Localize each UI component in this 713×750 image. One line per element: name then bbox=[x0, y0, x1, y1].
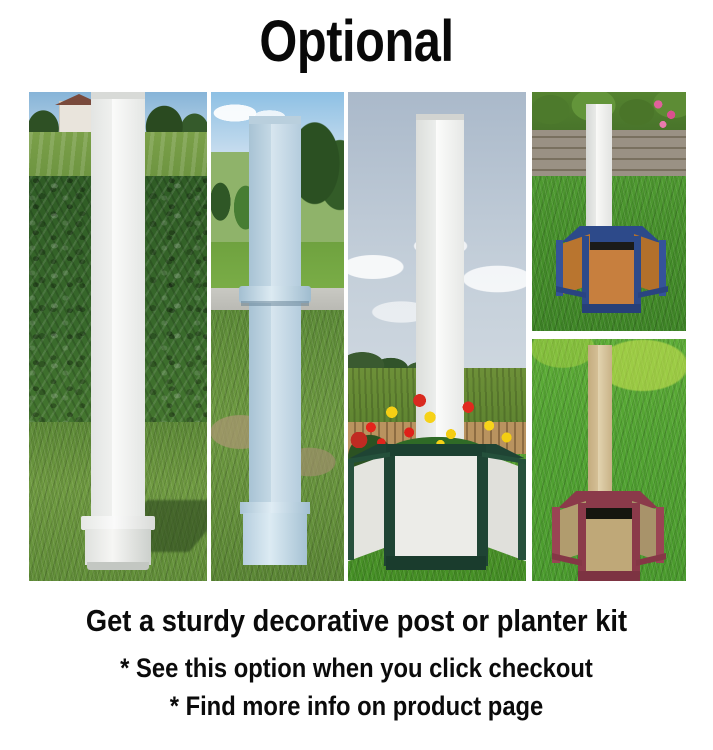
pink-flowers bbox=[648, 94, 682, 134]
gallery-photo-blue-post-collar[interactable] bbox=[211, 92, 344, 581]
post-top-cut bbox=[416, 114, 464, 120]
post-face-left bbox=[91, 92, 112, 524]
planter-frame-far-right bbox=[518, 460, 526, 560]
gallery-photo-cedar-blue-planter[interactable] bbox=[532, 92, 686, 331]
hexagonal-planter bbox=[556, 220, 666, 316]
product-photo-gallery bbox=[29, 92, 686, 581]
gallery-photo-white-post-field[interactable] bbox=[29, 92, 207, 581]
planter-panel-front bbox=[586, 250, 638, 308]
planter-top-rail bbox=[386, 444, 486, 456]
post-base-skirt bbox=[85, 529, 151, 565]
planter-panel-front bbox=[390, 450, 484, 564]
planter-frame-right-corner bbox=[477, 448, 488, 566]
planter-bottom-rail bbox=[582, 304, 641, 313]
post-face-right bbox=[112, 92, 145, 524]
post-top-cut bbox=[91, 92, 145, 99]
post-base-trim bbox=[81, 516, 155, 530]
planter-bottom-rail bbox=[386, 556, 486, 570]
post-base-skirt bbox=[243, 513, 307, 565]
footer-headline: Get a sturdy decorative post or planter … bbox=[43, 602, 670, 640]
footer-note-checkout: * See this option when you click checkou… bbox=[43, 651, 670, 685]
page-title: Optional bbox=[57, 6, 656, 78]
post-face-right bbox=[271, 116, 301, 548]
decorative-post bbox=[91, 92, 145, 524]
planter-frame-left-corner bbox=[578, 503, 586, 577]
gallery-photo-white-post-planter[interactable] bbox=[348, 92, 526, 581]
post-face-left bbox=[249, 116, 271, 548]
hexagonal-planter bbox=[552, 487, 664, 581]
post-top-cut bbox=[249, 116, 301, 124]
decorative-post bbox=[249, 116, 301, 548]
planter-frame-left-corner bbox=[384, 448, 395, 566]
planter-frame-left-corner bbox=[582, 236, 589, 310]
hexagonal-planter bbox=[348, 444, 526, 574]
gallery-photo-tan-maroon-planter[interactable] bbox=[532, 339, 686, 581]
post-base-bottom-edge bbox=[87, 562, 149, 570]
planter-bottom-rail bbox=[578, 571, 640, 581]
planter-frame-right-corner bbox=[634, 236, 641, 310]
footer-note-product-page: * Find more info on product page bbox=[43, 689, 670, 723]
planter-panel-front bbox=[582, 519, 636, 575]
post-collar-shadow bbox=[241, 301, 309, 306]
planter-frame-far-left bbox=[348, 460, 354, 560]
